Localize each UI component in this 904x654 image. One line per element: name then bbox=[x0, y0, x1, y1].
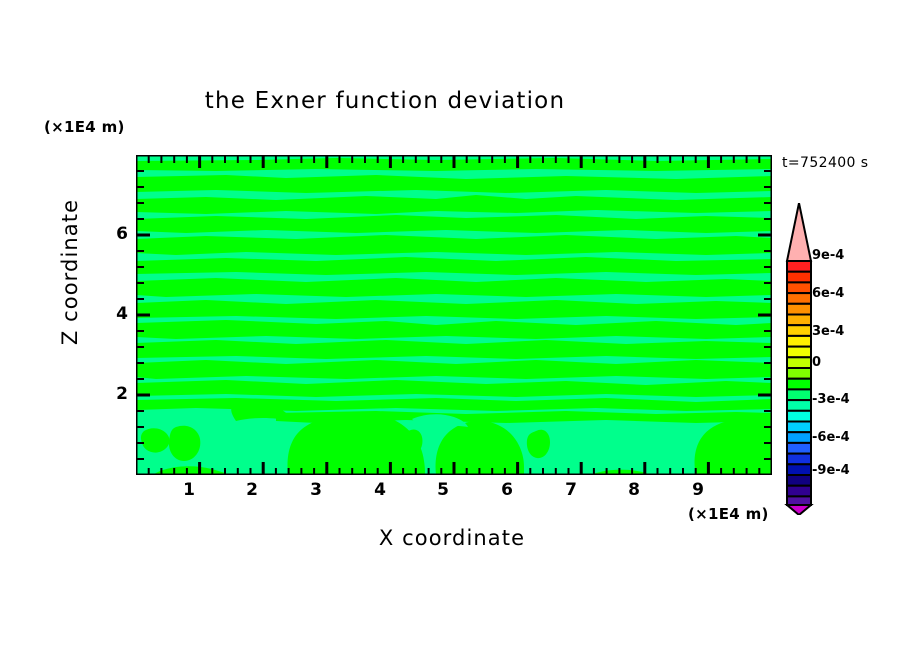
colorbar-tick-label: 0 bbox=[812, 355, 821, 370]
colorbar-tick-label: 6e-4 bbox=[812, 286, 844, 301]
x-axis-units-label: (×1E4 m) bbox=[688, 505, 769, 523]
x-tick-label: 9 bbox=[686, 480, 710, 500]
x-tick-label: 5 bbox=[431, 480, 455, 500]
x-tick-label: 4 bbox=[368, 480, 392, 500]
colorbar-tick-label: 3e-4 bbox=[812, 324, 844, 339]
x-tick-label: 6 bbox=[495, 480, 519, 500]
x-tick-label: 7 bbox=[559, 480, 583, 500]
y-axis-title: Z coordinate bbox=[58, 172, 82, 372]
y-tick-label: 6 bbox=[104, 224, 128, 244]
x-tick-label: 8 bbox=[622, 480, 646, 500]
time-stamp-label: t=752400 s bbox=[782, 155, 868, 171]
contour-plot-area bbox=[136, 155, 772, 475]
colorbar-tick-label: -3e-4 bbox=[812, 392, 850, 407]
x-tick-label: 3 bbox=[304, 480, 328, 500]
colorbar-tick-label: -9e-4 bbox=[812, 463, 850, 478]
y-tick-label: 4 bbox=[104, 304, 128, 324]
figure-canvas: the Exner function deviation (×1E4 m) t=… bbox=[0, 0, 904, 654]
x-tick-label: 1 bbox=[177, 480, 201, 500]
page-title: the Exner function deviation bbox=[0, 88, 770, 114]
colorbar-tick-label: -6e-4 bbox=[812, 430, 850, 445]
x-axis-title: X coordinate bbox=[0, 526, 904, 550]
y-axis-units-label: (×1E4 m) bbox=[44, 118, 125, 136]
x-tick-label: 2 bbox=[240, 480, 264, 500]
colorbar bbox=[784, 203, 814, 515]
colorbar-tick-label: 9e-4 bbox=[812, 248, 844, 263]
y-tick-label: 2 bbox=[104, 384, 128, 404]
